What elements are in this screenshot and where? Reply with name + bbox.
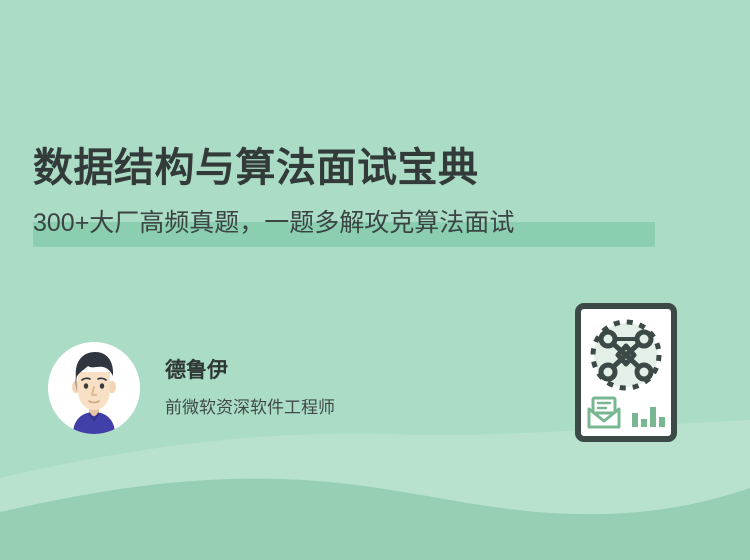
avatar-eye-right (100, 383, 104, 389)
bar-3 (650, 407, 656, 427)
envelope-letter (593, 398, 615, 413)
node-graph-icon (593, 322, 659, 388)
instructor-text: 德鲁伊 前微软资深软件工程师 (165, 357, 335, 420)
graph-node-bottom-right (637, 365, 651, 379)
wave-shape-dark (0, 479, 750, 560)
course-subtitle: 300+大厂高频真题，一题多解攻克算法面试 (33, 206, 514, 240)
instructor-name: 德鲁伊 (165, 357, 335, 385)
graph-node-top-right (637, 332, 651, 346)
avatar-face (78, 372, 110, 410)
bar-2 (641, 419, 647, 427)
subtitle-wrapper: 300+大厂高频真题，一题多解攻克算法面试 (33, 206, 514, 240)
graph-node-bottom-left (601, 365, 615, 379)
algorithm-card-icon (575, 303, 677, 442)
bar-1 (632, 413, 638, 427)
graph-node-top-left (601, 332, 615, 346)
page-title: 数据结构与算法面试宝典 (33, 142, 713, 194)
avatar-person-icon (72, 352, 116, 434)
instructor-block: 德鲁伊 前微软资深软件工程师 (48, 342, 335, 434)
open-envelope-icon (589, 398, 619, 427)
avatar (48, 342, 140, 434)
course-banner: 数据结构与算法面试宝典 300+大厂高频真题，一题多解攻克算法面试 (0, 0, 750, 560)
headline-block: 数据结构与算法面试宝典 300+大厂高频真题，一题多解攻克算法面试 (33, 142, 713, 240)
avatar-eye-left (84, 383, 88, 389)
instructor-role: 前微软资深软件工程师 (165, 396, 335, 420)
bar-4 (659, 417, 665, 427)
